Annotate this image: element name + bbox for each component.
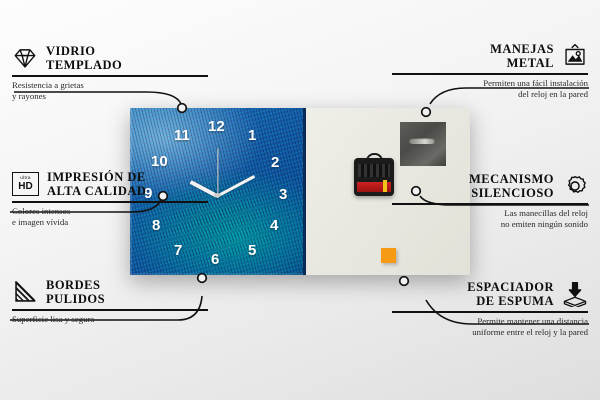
feature-title: ESPACIADOR DE ESPUMA: [467, 280, 554, 308]
feature-desc-line1: Permite mantener una distancia: [392, 316, 588, 328]
ultra-hd-icon-main: HD: [18, 182, 32, 192]
infographic-canvas: 12 1 2 3 4 5 6 7 8 9 10 11: [0, 0, 600, 400]
clock-second-hand: [217, 148, 218, 194]
feature-desc-line2: e imagen vívida: [12, 217, 208, 229]
feature-rule: [392, 203, 588, 205]
diamond-icon: [12, 45, 38, 71]
foam-spacer-part: [381, 248, 396, 263]
clock-numeral-3: 3: [279, 187, 287, 202]
feature-header: ultra HD IMPRESIÓN DE ALTA CALIDAD: [12, 170, 208, 198]
feature-desc-line1: Colores intensos: [12, 206, 208, 218]
clock-numeral-7: 7: [174, 243, 182, 258]
feature-impresion-alta-calidad[interactable]: ultra HD IMPRESIÓN DE ALTA CALIDAD Color…: [12, 170, 208, 229]
clock-numeral-1: 1: [248, 128, 256, 143]
feature-header: MANEJAS METAL: [392, 42, 588, 70]
mechanism-hook: [366, 153, 383, 162]
feature-mecanismo-silencioso[interactable]: MECANISMO SILENCIOSO Las manecillas del …: [392, 172, 588, 231]
feature-manejas-metal[interactable]: MANEJAS METAL Permiten una fácil instala…: [392, 42, 588, 101]
feature-title: MECANISMO SILENCIOSO: [469, 172, 554, 200]
picture-hanger-icon: [562, 43, 588, 69]
clock-center-pivot: [215, 193, 220, 198]
clock-numeral-2: 2: [271, 155, 279, 170]
clock-numeral-12: 12: [208, 119, 225, 134]
feature-title: VIDRIO TEMPLADO: [46, 44, 122, 72]
ultra-hd-icon: ultra HD: [12, 172, 39, 196]
clock-numeral-6: 6: [211, 252, 219, 267]
feature-title: IMPRESIÓN DE ALTA CALIDAD: [47, 170, 146, 198]
mechanism-label: [357, 182, 391, 192]
polished-edge-icon: [12, 279, 38, 305]
feature-espaciador-espuma[interactable]: ESPACIADOR DE ESPUMA Permite mantener un…: [392, 280, 588, 339]
feature-desc-line2: y rayones: [12, 91, 208, 103]
clock-numeral-5: 5: [248, 243, 256, 258]
feature-desc-line2: del reloj en la pared: [392, 89, 588, 101]
clock-numeral-4: 4: [270, 218, 278, 233]
mechanism-grid: [358, 164, 390, 177]
feature-desc-line2: uniforme entre el reloj y la pared: [392, 327, 588, 339]
clock-numeral-11: 11: [174, 128, 190, 143]
feature-desc-line1: Superficie lisa y segura: [12, 314, 208, 326]
feature-vidrio-templado[interactable]: VIDRIO TEMPLADO Resistencia a grietas y …: [12, 44, 208, 103]
feature-bordes-pulidos[interactable]: BORDES PULIDOS Superficie lisa y segura: [12, 278, 208, 325]
feature-rule: [392, 311, 588, 313]
feature-desc-line1: Permiten una fácil instalación: [392, 78, 588, 90]
feature-rule: [12, 75, 208, 77]
clock-minute-hand: [217, 175, 255, 197]
gear-icon: [562, 173, 588, 199]
feature-title: MANEJAS METAL: [490, 42, 554, 70]
feature-rule: [12, 309, 208, 311]
feature-header: VIDRIO TEMPLADO: [12, 44, 208, 72]
metal-hanger-part: [400, 122, 446, 166]
feature-rule: [392, 73, 588, 75]
hanger-slot: [409, 138, 435, 144]
feature-header: MECANISMO SILENCIOSO: [392, 172, 588, 200]
feature-header: BORDES PULIDOS: [12, 278, 208, 306]
clock-numeral-10: 10: [151, 154, 168, 169]
feature-title: BORDES PULIDOS: [46, 278, 105, 306]
feature-desc-line1: Las manecillas del reloj: [392, 208, 588, 220]
feature-desc-line1: Resistencia a grietas: [12, 80, 208, 92]
feature-desc-line2: no emiten ningún sonido: [392, 219, 588, 231]
quartz-mechanism-part: [354, 158, 394, 196]
feature-rule: [12, 201, 208, 203]
foam-spacer-icon: [562, 281, 588, 307]
feature-header: ESPACIADOR DE ESPUMA: [392, 280, 588, 308]
